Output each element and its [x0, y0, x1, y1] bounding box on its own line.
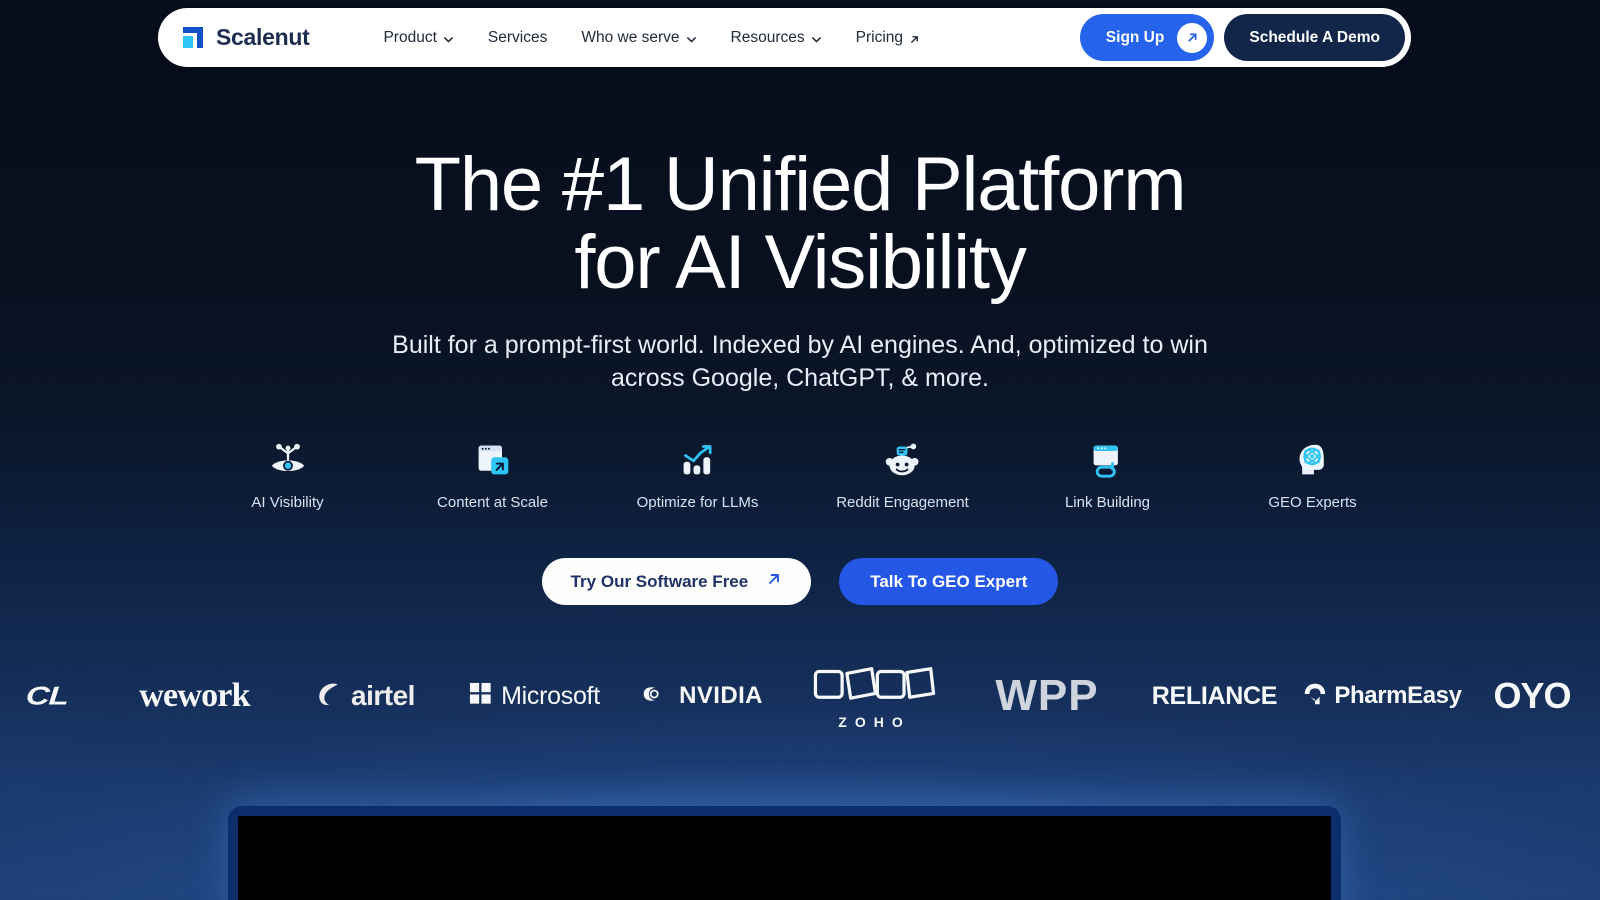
feature-icons-row: AI Visibility Content at Scale — [0, 440, 1600, 511]
feature-optimize-for-llms[interactable]: Optimize for LLMs — [595, 440, 800, 511]
feature-label: AI Visibility — [251, 494, 323, 511]
nav-link-pricing[interactable]: Pricing — [856, 29, 920, 47]
browser-link-icon — [1087, 440, 1129, 480]
cl-logo-icon: CL — [25, 681, 69, 711]
product-media-screen[interactable] — [238, 816, 1331, 900]
nav-link-services-label: Services — [488, 29, 547, 47]
feature-label: GEO Experts — [1268, 494, 1356, 511]
feature-label: Reddit Engagement — [836, 494, 969, 511]
talk-to-geo-expert-button[interactable]: Talk To GEO Expert — [839, 558, 1058, 605]
reliance-logo-icon: RELIANCE — [1152, 682, 1277, 711]
feature-ai-visibility[interactable]: AI Visibility — [185, 440, 390, 511]
oyo-logo-icon: OYO — [1493, 675, 1570, 717]
try-software-free-label: Try Our Software Free — [571, 572, 749, 592]
arrow-up-right-icon — [909, 32, 920, 43]
nav-link-product[interactable]: Product — [383, 29, 453, 47]
chevron-down-icon — [443, 32, 454, 43]
nav-link-who-we-serve[interactable]: Who we serve — [581, 29, 696, 47]
try-software-free-button[interactable]: Try Our Software Free — [542, 558, 812, 605]
wpp-logo-icon: WPP — [995, 671, 1098, 721]
client-logo-strip: CL wework airtel Microsoft — [0, 660, 1600, 732]
browser-scale-icon — [472, 440, 514, 480]
top-navbar: Scalenut Product Services Who we serve R… — [158, 8, 1411, 67]
microsoft-logo-text: Microsoft — [501, 682, 600, 711]
nav-link-pricing-label: Pricing — [856, 29, 903, 47]
chevron-down-icon — [811, 32, 822, 43]
schedule-demo-button[interactable]: Schedule A Demo — [1224, 14, 1405, 61]
nav-links: Product Services Who we serve Resources … — [383, 29, 920, 47]
hero-subtitle: Built for a prompt-first world. Indexed … — [0, 329, 1600, 397]
nav-link-product-label: Product — [383, 29, 436, 47]
hero-section: The #1 Unified Platform for AI Visibilit… — [0, 146, 1600, 396]
client-logo-airtel: airtel — [277, 679, 452, 714]
feature-reddit-engagement[interactable]: Reddit Engagement — [800, 440, 1005, 511]
zoho-mark-icon — [812, 662, 937, 707]
nav-actions: Sign Up Schedule A Demo — [1080, 14, 1405, 61]
feature-geo-experts[interactable]: GEO Experts — [1210, 440, 1415, 511]
nav-link-services[interactable]: Services — [488, 29, 547, 47]
feature-link-building[interactable]: Link Building — [1005, 440, 1210, 511]
pharmeasy-logo-text: PharmEasy — [1334, 682, 1461, 710]
cta-row: Try Our Software Free Talk To GEO Expert — [0, 558, 1600, 605]
hero-title-line-2: for AI Visibility — [0, 224, 1600, 302]
nvidia-logo-text: NVIDIA — [679, 682, 763, 710]
nav-link-resources-label: Resources — [731, 29, 805, 47]
wework-logo-icon: wework — [139, 677, 249, 715]
bar-chart-trend-icon — [677, 440, 719, 480]
hero-title-line-1: The #1 Unified Platform — [415, 142, 1186, 227]
microsoft-mark-icon — [469, 682, 492, 710]
reddit-alien-icon — [882, 440, 924, 480]
brand-name: Scalenut — [216, 24, 309, 51]
feature-label: Optimize for LLMs — [637, 494, 759, 511]
airtel-logo-text: airtel — [351, 680, 415, 712]
head-network-icon — [1292, 440, 1334, 480]
ai-eye-icon — [267, 440, 309, 480]
client-logo-oyo: OYO — [1467, 675, 1597, 717]
sign-up-button[interactable]: Sign Up — [1080, 14, 1215, 61]
client-logo-zoho: ZOHO — [787, 662, 962, 730]
page-title: The #1 Unified Platform for AI Visibilit… — [0, 146, 1600, 303]
nvidia-mark-icon — [641, 683, 671, 710]
feature-content-at-scale[interactable]: Content at Scale — [390, 440, 595, 511]
brand-logo[interactable]: Scalenut — [180, 24, 309, 51]
arrow-up-right-icon — [1177, 23, 1207, 53]
client-logo-cl: CL — [0, 677, 112, 715]
pharmeasy-mark-icon — [1302, 681, 1328, 712]
zoho-logo-text: ZOHO — [838, 714, 910, 730]
nav-link-resources[interactable]: Resources — [731, 29, 822, 47]
client-logo-pharmeasy: PharmEasy — [1297, 681, 1467, 712]
airtel-mark-icon — [314, 679, 344, 714]
client-logo-wework: wework — [112, 677, 277, 715]
nav-link-who-we-serve-label: Who we serve — [581, 29, 679, 47]
arrow-up-right-icon — [766, 571, 782, 592]
client-logo-nvidia: NVIDIA — [617, 682, 787, 710]
product-media-frame[interactable] — [228, 806, 1341, 900]
scalenut-logo-icon — [180, 25, 206, 51]
chevron-down-icon — [686, 32, 697, 43]
feature-label: Content at Scale — [437, 494, 548, 511]
sign-up-label: Sign Up — [1106, 29, 1165, 47]
hero-subtitle-line-1: Built for a prompt-first world. Indexed … — [392, 331, 1208, 359]
client-logo-reliance: RELIANCE — [1132, 682, 1297, 711]
hero-subtitle-line-2: across Google, ChatGPT, & more. — [0, 362, 1600, 396]
feature-label: Link Building — [1065, 494, 1150, 511]
client-logo-microsoft: Microsoft — [452, 682, 617, 711]
client-logo-wpp: WPP — [962, 671, 1132, 721]
